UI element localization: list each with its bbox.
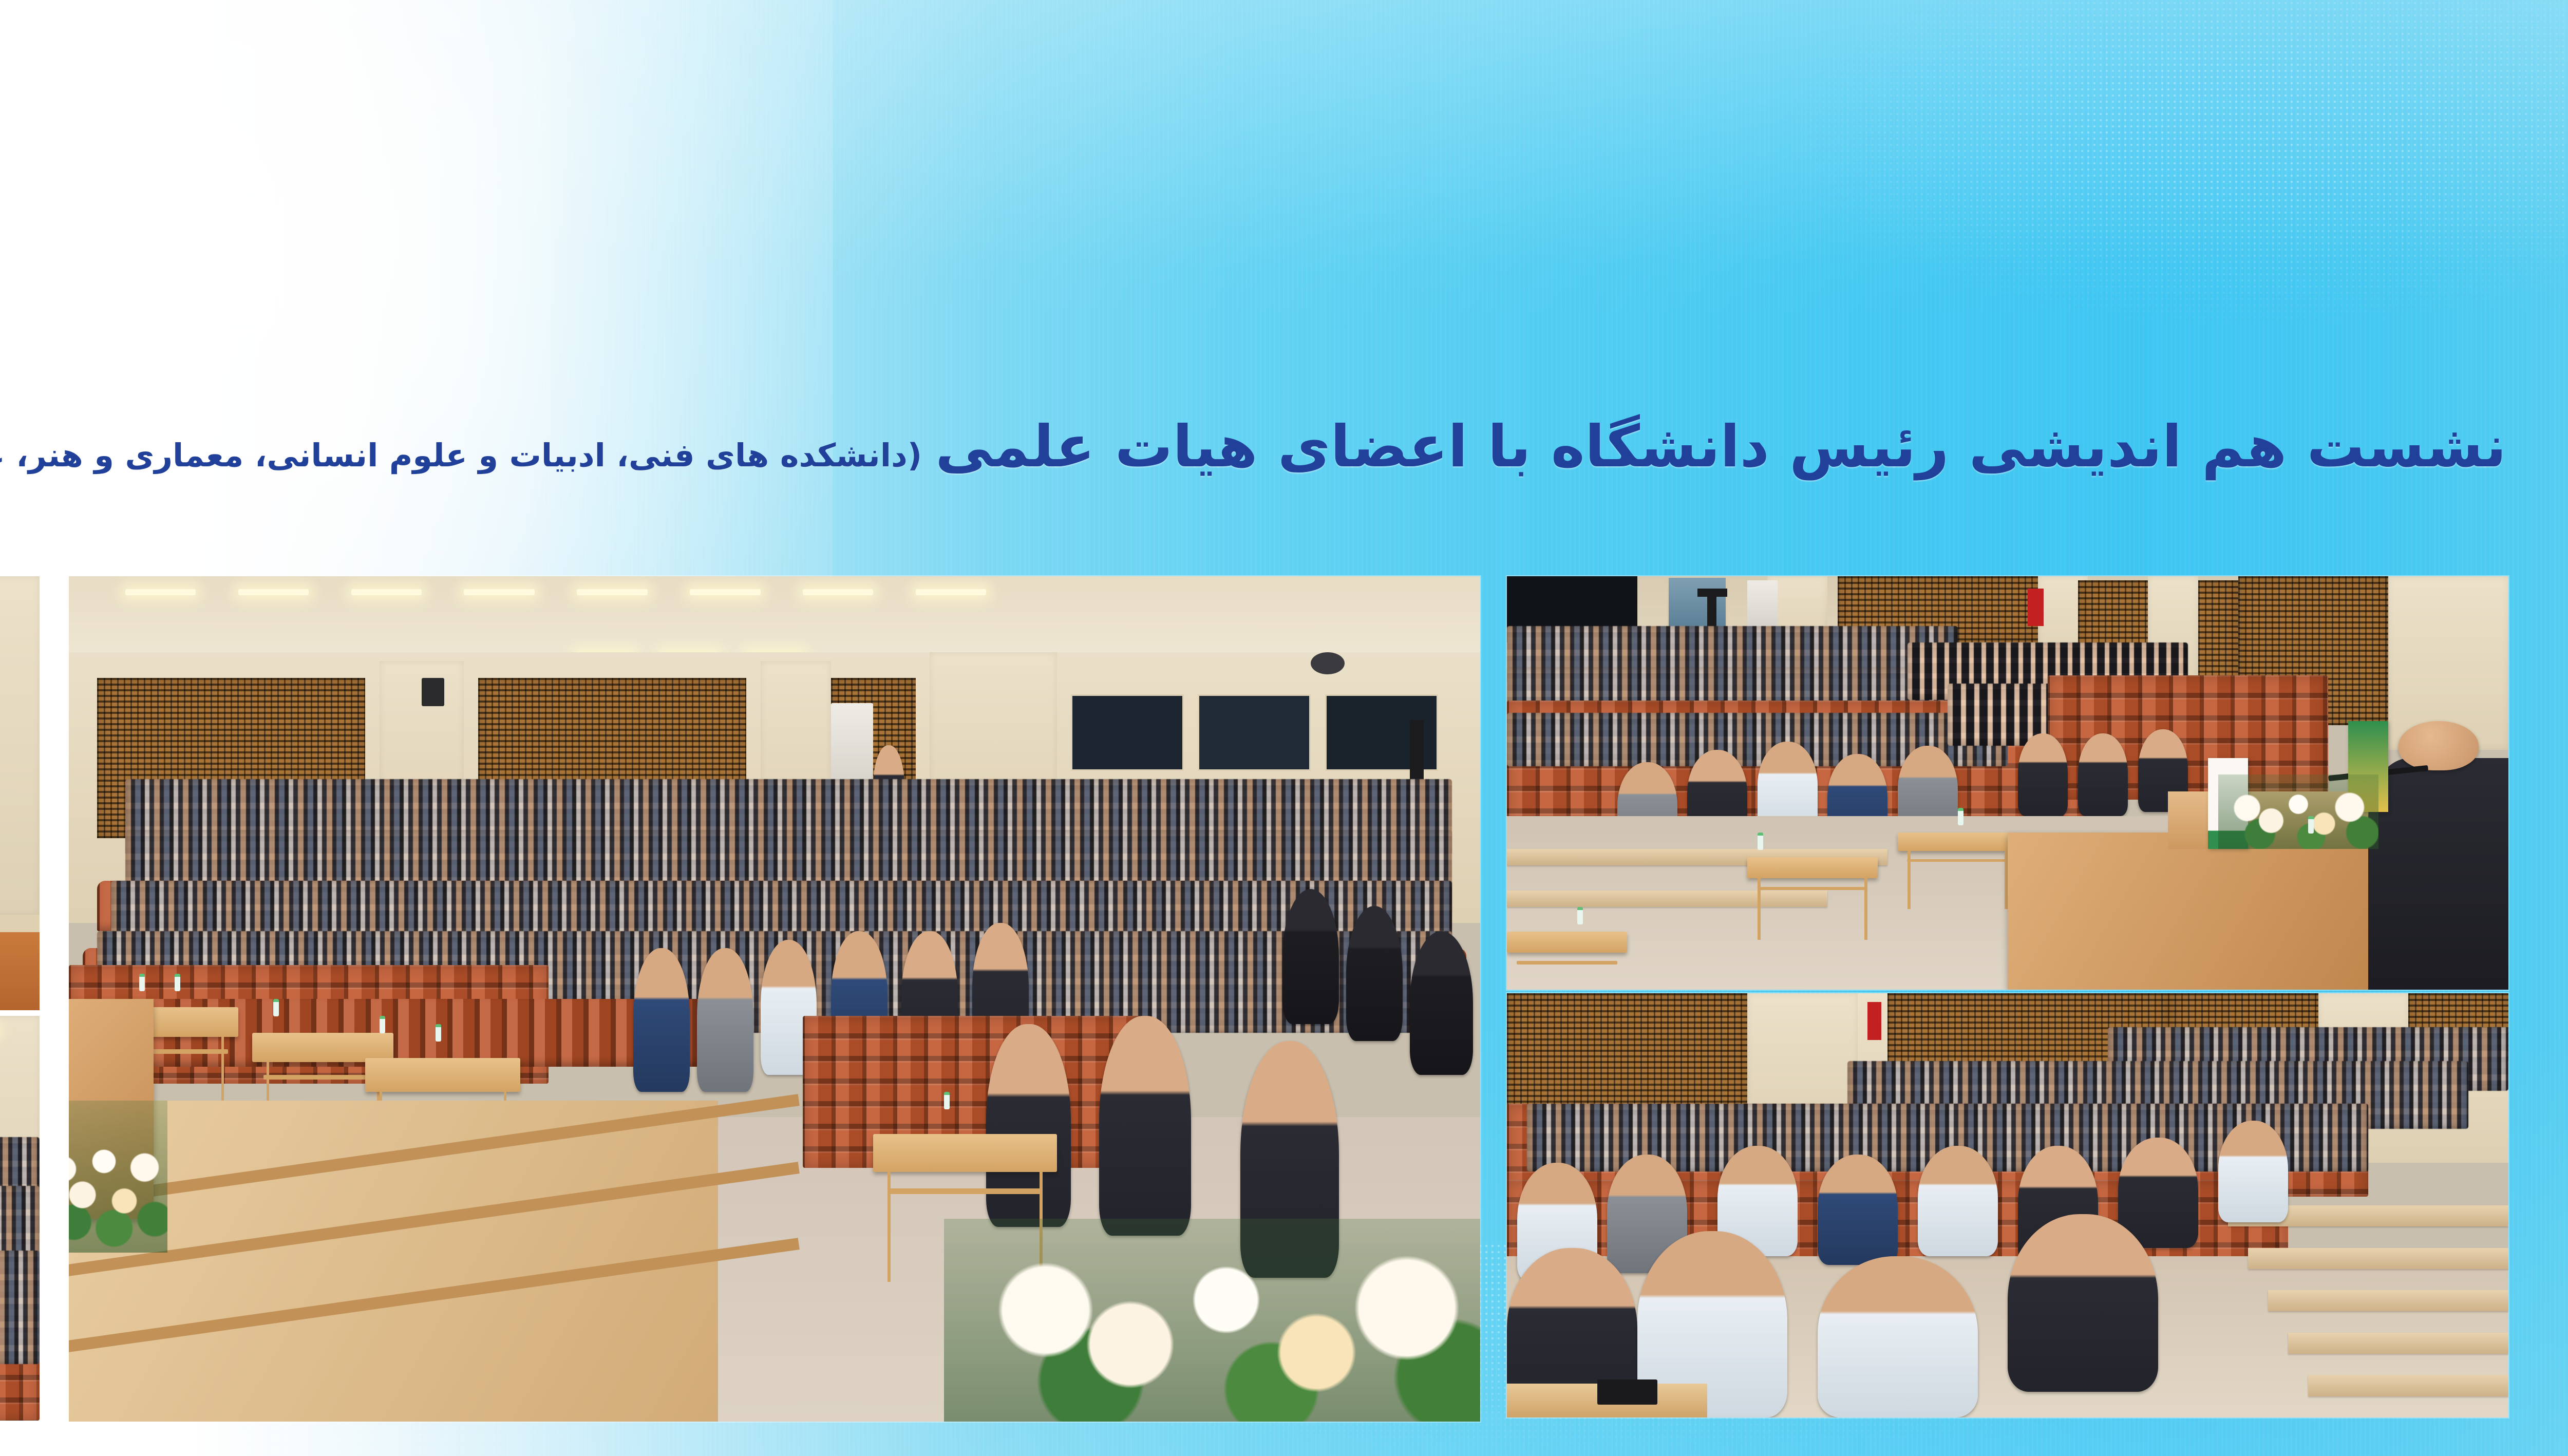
faculty-person-foreground — [2008, 1214, 2158, 1392]
front-row-person — [2078, 733, 2128, 816]
audience-crowd-front — [0, 1251, 40, 1364]
front-row-person — [1282, 889, 1339, 1024]
front-row-person — [2018, 733, 2068, 816]
photo-grid: گیلان — [0, 0, 2568, 1456]
side-table — [1898, 833, 2018, 851]
side-table — [1507, 932, 1627, 952]
side-table — [873, 1134, 1056, 1172]
flower-arrangement — [2218, 774, 2378, 849]
front-row-person — [1346, 906, 1403, 1041]
front-row-person — [1410, 931, 1474, 1075]
photo-auditorium-wide-view — [69, 576, 1480, 1422]
faculty-person — [1818, 1155, 1898, 1265]
speaker-body — [2368, 758, 2508, 990]
side-table — [1747, 857, 1878, 878]
event-banner: دانشگاه گیلان روابط عمومی دانشگاه گیلان … — [0, 0, 2568, 1456]
side-table — [365, 1058, 520, 1092]
photo-from-podium-toward-audience — [1507, 576, 2508, 990]
photo-faculty-members-seated — [1507, 993, 2508, 1417]
faculty-person — [2218, 1121, 2289, 1222]
podium — [2008, 833, 2368, 990]
front-row-person — [697, 948, 753, 1092]
flower-arrangement — [944, 1219, 1480, 1422]
faculty-person-foreground — [1818, 1256, 1978, 1417]
front-row-person — [633, 948, 690, 1092]
front-row-person — [1099, 1016, 1191, 1236]
flower-arrangement — [69, 1101, 167, 1253]
faculty-person — [1918, 1146, 1998, 1256]
photo-audience-side-view — [0, 1016, 40, 1421]
photo-speaker-at-podium: گیلان — [0, 576, 40, 1010]
speaker-head — [2399, 721, 2479, 771]
